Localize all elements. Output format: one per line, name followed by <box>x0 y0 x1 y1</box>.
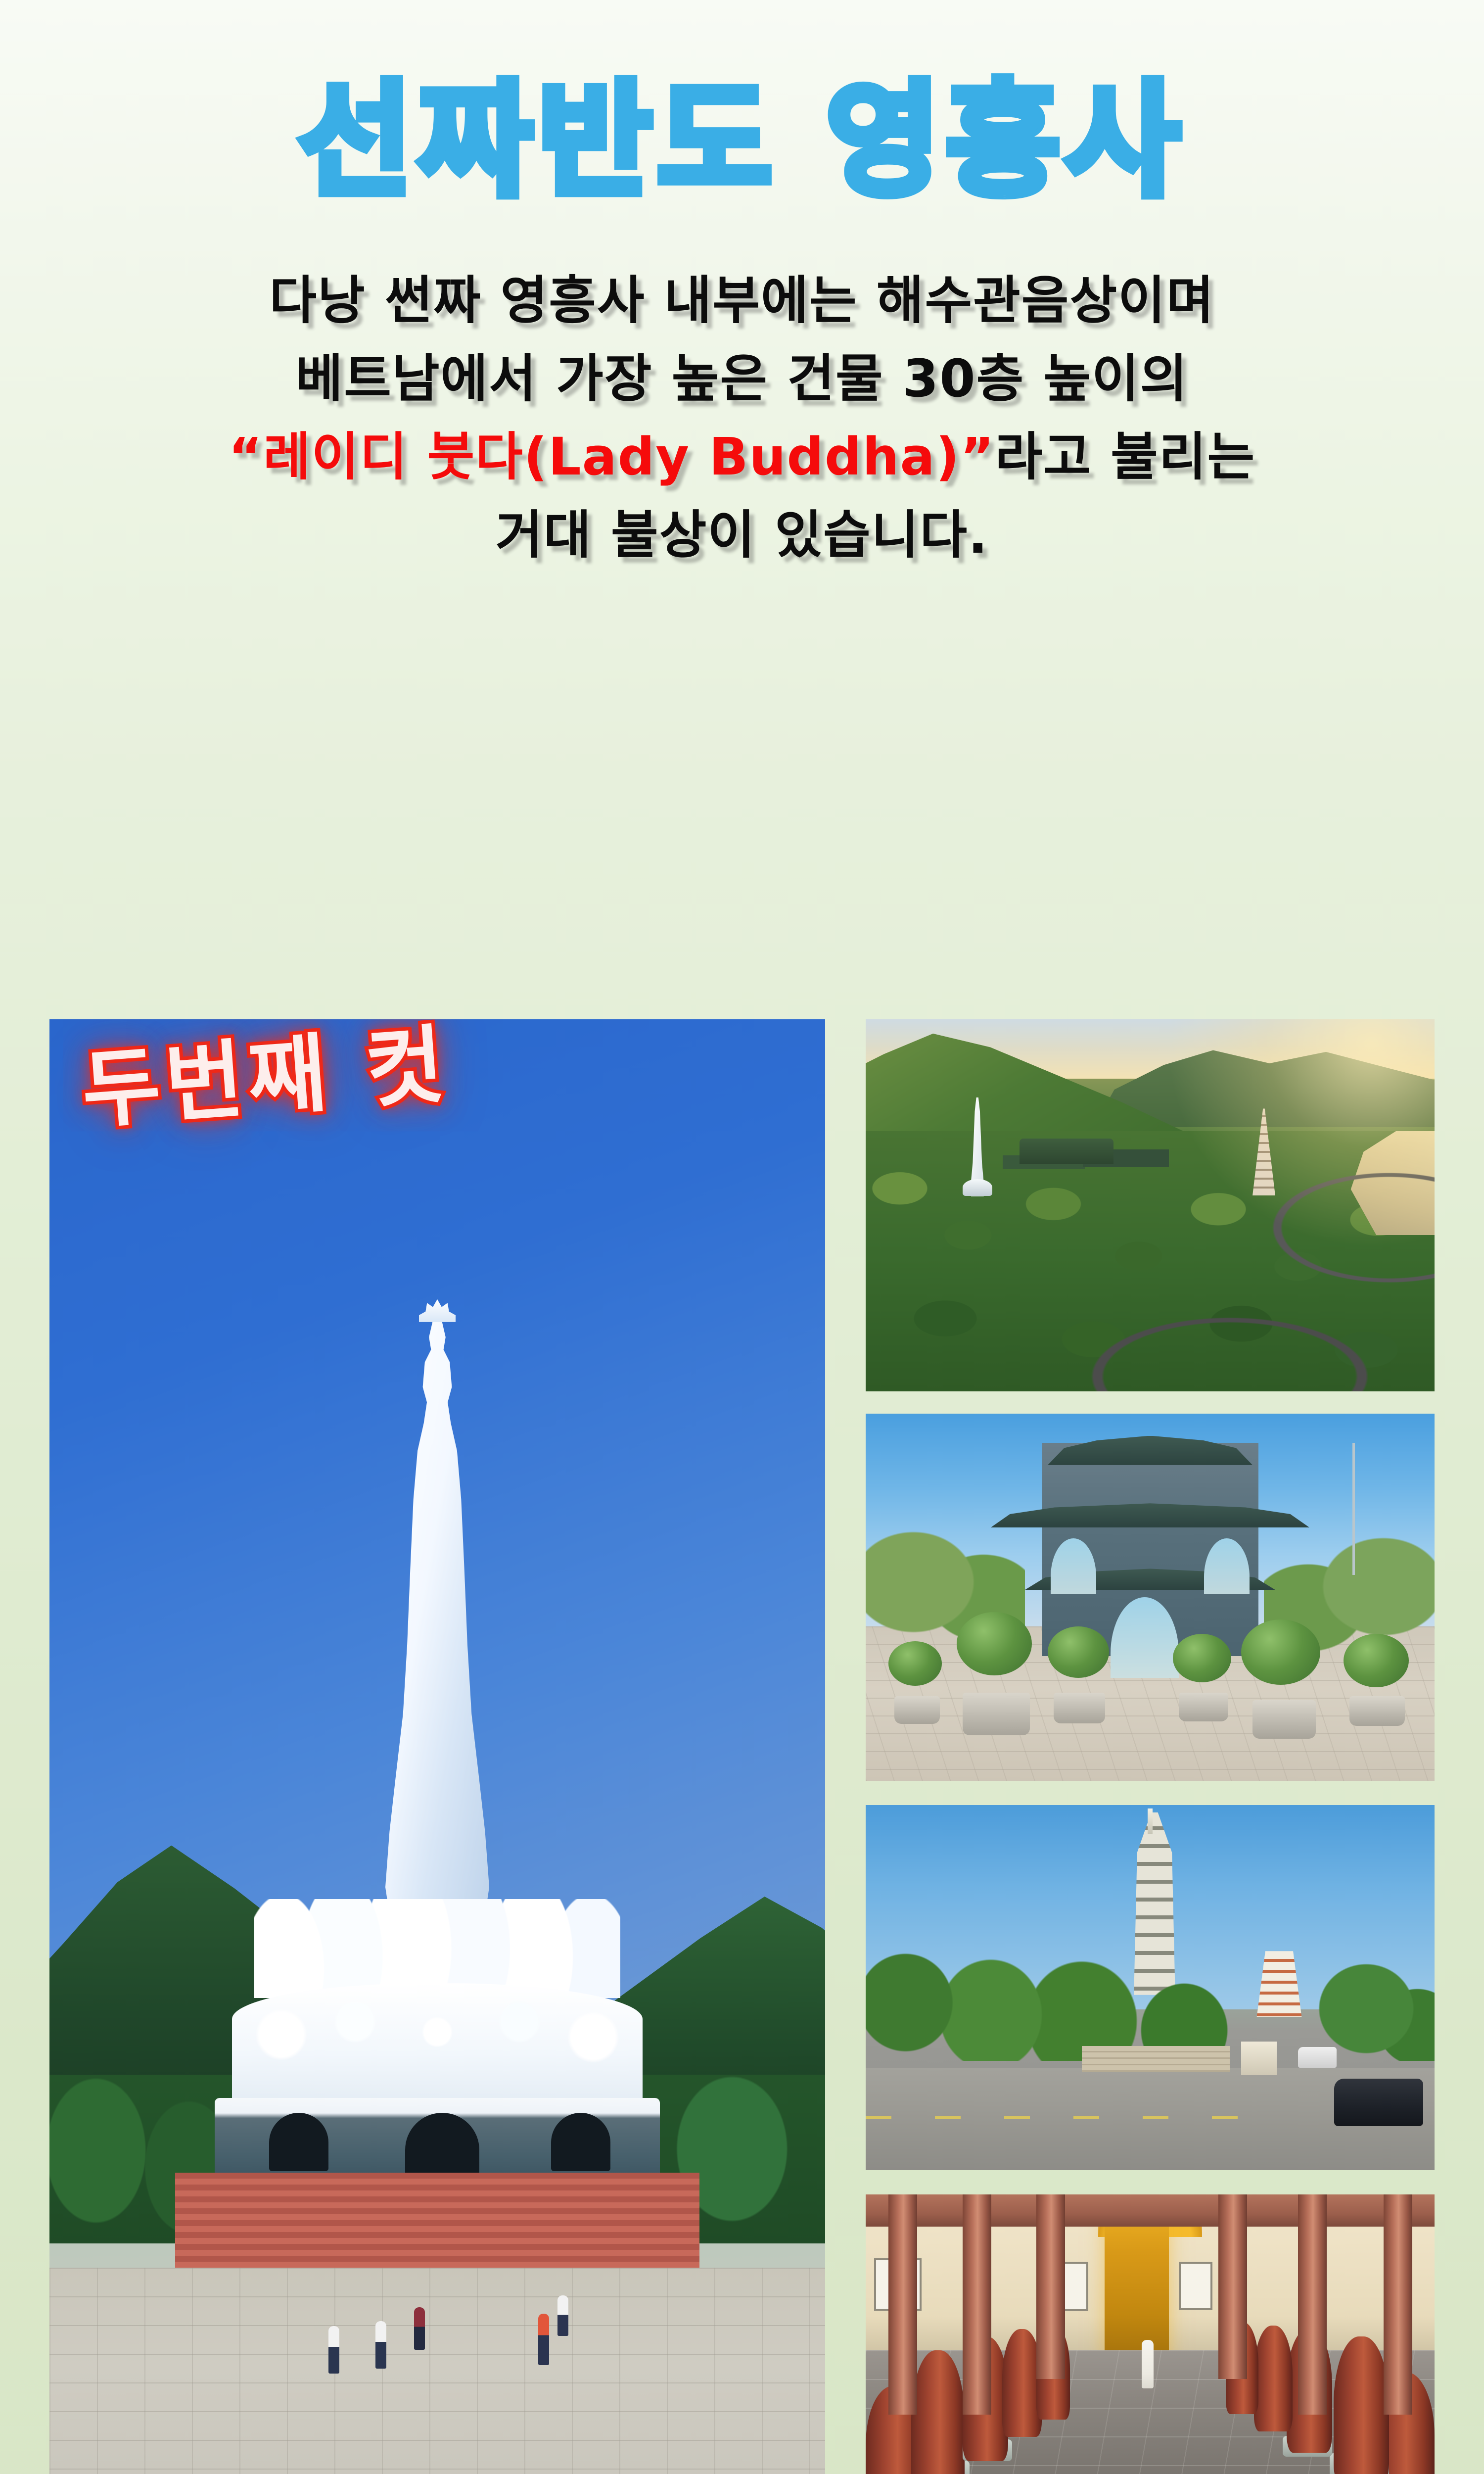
poster-description: 다낭 썬짜 영흥사 내부에는 해수관음상이며 베트남에서 가장 높은 건물 30… <box>0 261 1484 574</box>
planter-pot <box>1054 1693 1105 1723</box>
tourist-figure <box>538 2314 549 2365</box>
bonsai-tree <box>888 1641 942 1686</box>
arhat-statue <box>1254 2326 1293 2431</box>
wall-painting <box>1179 2262 1212 2310</box>
arhat-statue <box>1334 2336 1389 2474</box>
red-staircase <box>175 2173 699 2272</box>
photo-lady-buddha-statue: 두번째 컷 <box>49 1019 825 2474</box>
red-pillar <box>1384 2194 1412 2415</box>
parked-black-suv <box>1334 2079 1423 2126</box>
lotus-drum-base <box>232 1983 643 2112</box>
bonsai-tree <box>1048 1626 1109 1678</box>
carved-ceiling-beam <box>866 2194 1435 2227</box>
description-line-2: 베트남에서 가장 높은 건물 30층 높이의 <box>0 339 1484 418</box>
parking-lines <box>866 2116 1252 2119</box>
description-line-1: 다낭 썬짜 영흥사 내부에는 해수관음상이며 <box>0 261 1484 339</box>
guard-booth <box>1241 2042 1277 2075</box>
red-pillar <box>888 2194 917 2415</box>
sun-glow <box>1150 1019 1435 1257</box>
bonsai-tree <box>1173 1634 1231 1682</box>
red-pillar <box>1298 2194 1327 2415</box>
bonsai-tree <box>1241 1619 1320 1685</box>
bonsai-tree <box>1344 1634 1409 1687</box>
photo-temple-hall <box>866 2194 1435 2474</box>
plinth-arch-left <box>269 2113 328 2171</box>
page-title: 선짜반도 영흥사 <box>0 79 1484 203</box>
statue-plinth <box>215 2098 660 2182</box>
poster-header: 선짜반도 영흥사 <box>0 0 1484 203</box>
flagpole <box>1352 1443 1355 1575</box>
tourist-figure <box>328 2326 339 2374</box>
tourist-figure <box>375 2321 386 2369</box>
arhat-statue <box>1002 2329 1042 2437</box>
description-line-3-rest: 라고 불리는 <box>995 427 1256 487</box>
planter-pot <box>1252 1700 1316 1739</box>
planter-pot <box>1349 1696 1405 1726</box>
visitor-figure <box>1142 2340 1154 2388</box>
plinth-arch-center <box>405 2113 479 2178</box>
description-line-4: 거대 불상이 있습니다. <box>0 496 1484 574</box>
photo-gallery: 두번째 컷 <box>49 1019 1435 2474</box>
hero-photo-caption: 두번째 컷 <box>79 1022 452 1134</box>
lady-buddha-highlight: “레이디 붓다(Lady Buddha)” <box>229 427 995 487</box>
red-pillar <box>1036 2194 1065 2379</box>
red-pillar <box>963 2194 991 2415</box>
photo-pagoda-tower <box>866 1805 1435 2170</box>
photo-temple-gate <box>866 1414 1435 1781</box>
bonsai-tree <box>957 1612 1032 1675</box>
planter-pot <box>1179 1693 1228 1721</box>
stone-wall <box>1082 2046 1230 2072</box>
red-pillar <box>1218 2194 1247 2379</box>
parked-white-car <box>1298 2047 1337 2068</box>
tourist-figure <box>557 2295 568 2336</box>
photo-aerial-sunset-view <box>866 1019 1435 1391</box>
pagoda-spire <box>1148 1808 1153 1834</box>
plinth-arch-right <box>551 2113 610 2171</box>
planter-pot <box>963 1693 1030 1735</box>
stone-plaza <box>49 2268 825 2474</box>
tree-line <box>866 1907 1435 2061</box>
arhat-statue <box>911 2350 965 2474</box>
tourist-figure <box>414 2307 425 2350</box>
description-line-3: “레이디 붓다(Lady Buddha)”라고 불리는 <box>0 418 1484 496</box>
planter-pot <box>894 1696 940 1724</box>
